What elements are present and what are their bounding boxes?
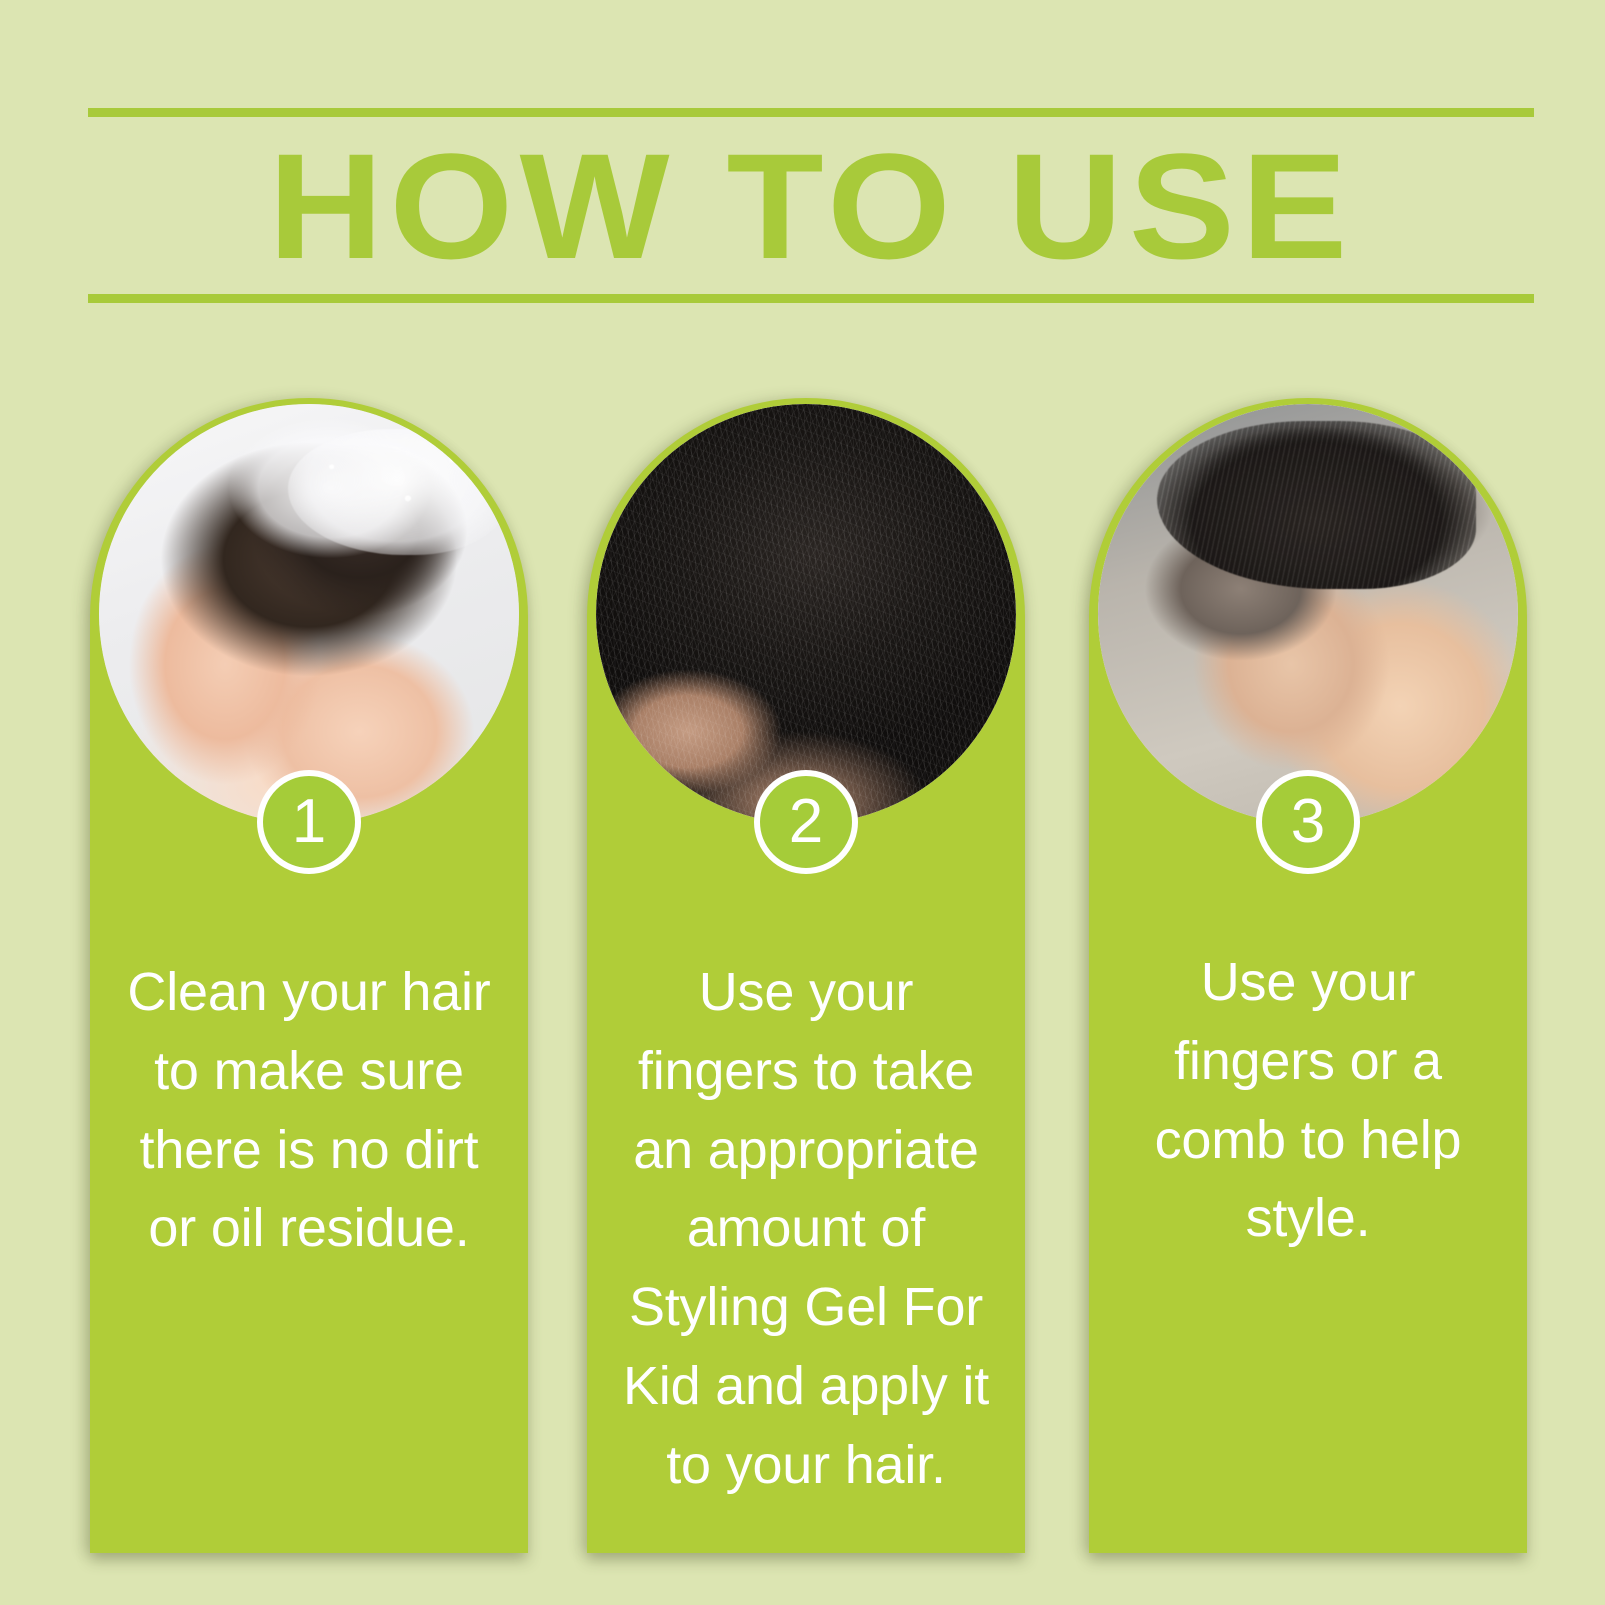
step-card-1: 1 Clean your hair to make sure there is … bbox=[90, 398, 528, 1553]
title-rule-bottom bbox=[88, 294, 1534, 303]
step-caption-3: Use your fingers or a comb to help style… bbox=[1115, 943, 1501, 1258]
step-caption-2: Use your fingers to take an appropriate … bbox=[613, 953, 999, 1505]
step-card-2: 2 Use your fingers to take an appropriat… bbox=[587, 398, 1025, 1553]
step-number-badge-3: 3 bbox=[1256, 770, 1360, 874]
step-photo-1 bbox=[99, 404, 519, 824]
page-title: HOW TO USE bbox=[45, 108, 1578, 303]
step-card-3: 3 Use your fingers or a comb to help sty… bbox=[1089, 398, 1527, 1553]
boy-with-styled-quiff-image bbox=[1098, 404, 1518, 824]
step-number-badge-2: 2 bbox=[754, 770, 858, 874]
baby-shampooing-hair-image bbox=[99, 404, 519, 824]
step-caption-1: Clean your hair to make sure there is no… bbox=[116, 953, 502, 1268]
step-number-badge-1: 1 bbox=[257, 770, 361, 874]
step-photo-3 bbox=[1098, 404, 1518, 824]
header: HOW TO USE bbox=[88, 108, 1534, 303]
steps-list: 1 Clean your hair to make sure there is … bbox=[0, 398, 1605, 1558]
step-photo-2 bbox=[596, 404, 1016, 824]
close-up-dark-hair-image bbox=[596, 404, 1016, 824]
